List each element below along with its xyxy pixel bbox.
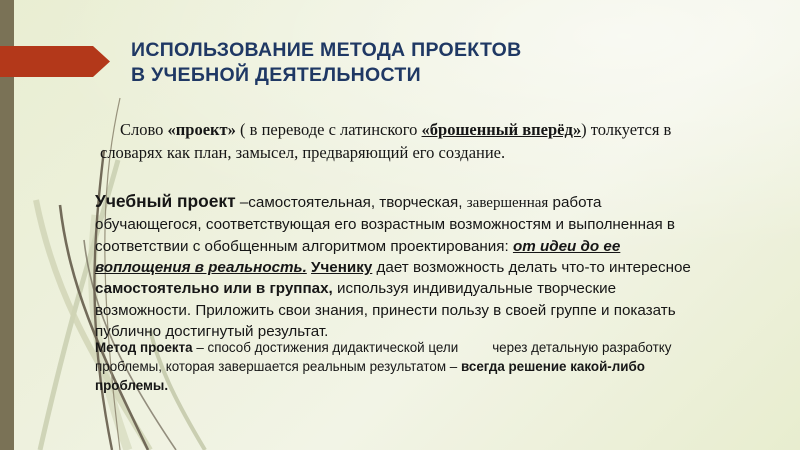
page-title-line-2: В УЧЕБНОЙ ДЕЯТЕЛЬНОСТИ <box>131 63 731 88</box>
definition-text-1: Слово <box>120 120 168 139</box>
project-lead-term: Учебный проект <box>95 191 236 211</box>
page-title: ИСПОЛЬЗОВАНИЕ МЕТОДА ПРОЕКТОВ В УЧЕБНОЙ … <box>131 38 731 88</box>
definition-term-proekt: «проект» <box>168 120 236 139</box>
paragraph-project-definition: Слово «проект» ( в переводе с латинского… <box>100 118 700 164</box>
project-text-3: : <box>504 238 512 255</box>
project-word-zavershennaya: завершенная <box>467 195 549 211</box>
paragraph-educational-project: Учебный проект –самостоятельная, творчес… <box>95 191 703 342</box>
project-text-5: дает возможность делать что-то интересно… <box>372 259 691 276</box>
method-text-1: – способ достижения дидактической цели <box>193 340 459 355</box>
project-emphasis-ucheniku: Ученику <box>311 259 372 276</box>
project-emphasis-groups: самостоятельно или в группах, <box>95 280 333 297</box>
arrow-banner-icon <box>0 46 110 77</box>
method-lead-term: Метод проекта <box>95 340 193 355</box>
definition-text-2: ( в переводе с латинского <box>236 120 422 139</box>
project-text-1: –самостоятельная, творческая, <box>236 194 467 211</box>
presentation-slide: ИСПОЛЬЗОВАНИЕ МЕТОДА ПРОЕКТОВ В УЧЕБНОЙ … <box>0 0 800 450</box>
page-title-line-1: ИСПОЛЬЗОВАНИЕ МЕТОДА ПРОЕКТОВ <box>131 38 731 63</box>
definition-term-latin: «брошенный вперёд» <box>422 120 582 139</box>
paragraph-project-method: Метод проекта – способ достижения дидакт… <box>95 338 705 395</box>
